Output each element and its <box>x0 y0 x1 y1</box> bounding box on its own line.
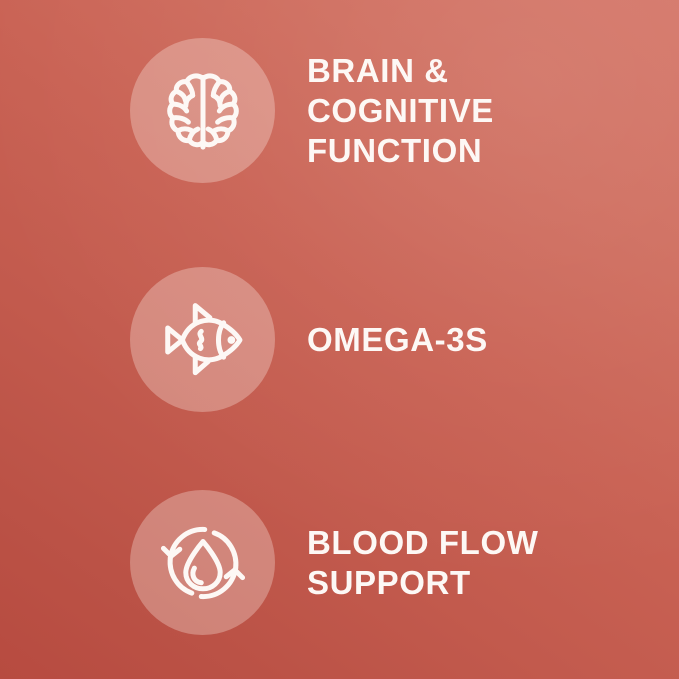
benefit-label-omega3: Omega-3s <box>307 320 488 360</box>
icon-circle-brain <box>130 38 275 183</box>
icon-circle-blood-flow <box>130 490 275 635</box>
brain-icon <box>160 68 246 154</box>
benefit-row-blood-flow: Blood Flow Support <box>0 490 679 635</box>
benefit-label-blood-flow: Blood Flow Support <box>307 523 538 603</box>
blood-drop-flow-icon <box>160 520 246 606</box>
benefit-row-brain: Brain & Cognitive Function <box>0 38 679 183</box>
benefit-label-brain: Brain & Cognitive Function <box>307 51 637 171</box>
fish-icon <box>160 297 246 383</box>
benefit-row-omega3: Omega-3s <box>0 267 679 412</box>
benefits-infographic: Brain & Cognitive Function <box>0 0 679 679</box>
icon-circle-fish <box>130 267 275 412</box>
